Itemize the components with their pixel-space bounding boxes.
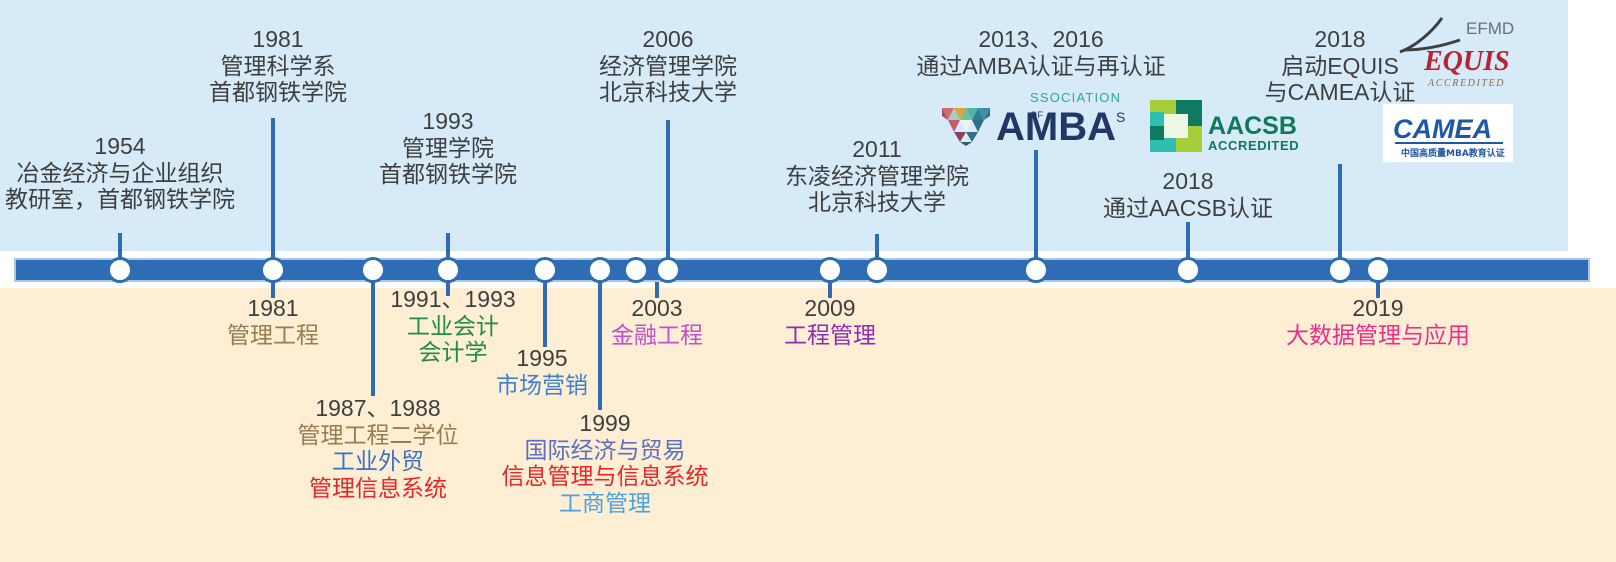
event-line-e1981u-0: 管理科学系 (209, 53, 347, 80)
equis-efmd-text: EFMD (1466, 19, 1514, 38)
aacsb-accredited-text: ACCREDITED (1208, 138, 1299, 153)
event-label-e2018a: 2018通过AACSB认证 (1103, 168, 1273, 221)
event-label-b1981: 1981管理工程 (227, 295, 319, 348)
timeline-node-10[interactable] (1023, 257, 1049, 283)
amba-main-text: AMBA (996, 105, 1116, 149)
camea-sub-text: 中国高质量MBA教育认证 (1401, 147, 1505, 159)
event-line-b1995-0: 市场营销 (496, 372, 588, 399)
event-year-e2018a: 2018 (1103, 168, 1273, 195)
connector-stem-e2013 (1034, 150, 1038, 259)
event-year-e1981u: 1981 (209, 26, 347, 53)
event-year-b2009: 2009 (784, 295, 876, 322)
amba-sup-text: S (1116, 109, 1125, 125)
timeline-node-12[interactable] (1327, 257, 1353, 283)
event-year-b2003: 2003 (611, 295, 703, 322)
event-year-e1954: 1954 (5, 133, 235, 160)
event-line-b1999-2: 工商管理 (502, 490, 709, 517)
event-label-b1995: 1995市场营销 (496, 345, 588, 398)
event-line-b2003-0: 金融工程 (611, 322, 703, 349)
event-year-e2013: 2013、2016 (916, 26, 1165, 53)
event-year-b2019: 2019 (1286, 295, 1470, 322)
amba-wordmark: SSOCIATION OF AMBA S (996, 88, 1144, 150)
camea-logo: CAMEA 中国高质量MBA教育认证 (1383, 104, 1513, 162)
timeline-node-1[interactable] (260, 257, 286, 283)
event-line-e2006-0: 经济管理学院 (599, 53, 737, 80)
timeline-node-7[interactable] (655, 257, 681, 283)
connector-stem-b1995 (543, 282, 547, 347)
event-label-e2006: 2006经济管理学院北京科技大学 (599, 26, 737, 106)
event-line-b1981-0: 管理工程 (227, 322, 319, 349)
timeline-node-2[interactable] (360, 257, 386, 283)
timeline-node-11[interactable] (1175, 257, 1201, 283)
event-year-b1999: 1999 (502, 410, 709, 437)
event-line-e2011-1: 北京科技大学 (785, 189, 969, 216)
connector-stem-e2011 (875, 234, 879, 259)
amba-diamond-icon (938, 92, 996, 146)
equis-accredited-text: ACCREDITED (1427, 78, 1505, 89)
event-label-e2013: 2013、2016通过AMBA认证与再认证 (916, 26, 1165, 79)
equis-logo: EFMD EQUIS ACCREDITED (1398, 16, 1518, 98)
connector-stem-e2018a (1186, 222, 1190, 259)
event-line-e1954-1: 教研室，首都钢铁学院 (5, 186, 235, 213)
timeline-bar (14, 258, 1590, 282)
event-label-e1954: 1954冶金经济与企业组织教研室，首都钢铁学院 (5, 133, 235, 213)
event-label-b1987: 1987、1988管理工程二学位工业外贸管理信息系统 (298, 395, 459, 502)
event-label-e2018b: 2018启动EQUIS与CAMEA认证 (1265, 26, 1416, 106)
connector-stem-e1981u (271, 118, 275, 259)
connector-stem-e1954 (118, 233, 122, 259)
event-label-b1999: 1999国际经济与贸易信息管理与信息系统工商管理 (502, 410, 709, 517)
connector-stem-e2018b (1338, 164, 1342, 259)
aacsb-logo: AACSB ACCREDITED (1148, 98, 1308, 160)
event-year-b1987: 1987、1988 (298, 395, 459, 422)
connector-stem-b1999 (598, 282, 602, 410)
event-label-e1981u: 1981管理科学系首都钢铁学院 (209, 26, 347, 106)
timeline-infographic: 1954冶金经济与企业组织教研室，首都钢铁学院1981管理科学系首都钢铁学院19… (0, 0, 1616, 562)
event-line-e1954-0: 冶金经济与企业组织 (5, 160, 235, 187)
timeline-node-8[interactable] (817, 257, 843, 283)
event-line-b1987-2: 管理信息系统 (298, 475, 459, 502)
timeline-node-5[interactable] (587, 257, 613, 283)
event-year-b1995: 1995 (496, 345, 588, 372)
event-line-e2013-0: 通过AMBA认证与再认证 (916, 53, 1165, 80)
timeline-node-9[interactable] (864, 257, 890, 283)
event-line-e2006-1: 北京科技大学 (599, 79, 737, 106)
event-line-e2018a-0: 通过AACSB认证 (1103, 195, 1273, 222)
event-year-e2006: 2006 (599, 26, 737, 53)
event-label-b2003: 2003金融工程 (611, 295, 703, 348)
camea-main-text: CAMEA (1393, 114, 1492, 144)
equis-mark-icon: EFMD EQUIS ACCREDITED (1398, 16, 1518, 98)
timeline-node-6[interactable] (623, 257, 649, 283)
event-line-b1999-0: 国际经济与贸易 (502, 437, 709, 464)
connector-stem-b1987 (371, 282, 375, 396)
event-line-e1993u-1: 首都钢铁学院 (379, 161, 517, 188)
event-line-b1987-1: 工业外贸 (298, 448, 459, 475)
aacsb-main-text: AACSB (1208, 112, 1297, 140)
event-label-b2009: 2009工程管理 (784, 295, 876, 348)
event-line-b2019-0: 大数据管理与应用 (1286, 322, 1470, 349)
event-line-e1993u-0: 管理学院 (379, 135, 517, 162)
event-year-e2018b: 2018 (1265, 26, 1416, 53)
event-line-b2009-0: 工程管理 (784, 322, 876, 349)
equis-main-text: EQUIS (1423, 46, 1510, 77)
event-line-b1987-0: 管理工程二学位 (298, 422, 459, 449)
timeline-node-13[interactable] (1365, 257, 1391, 283)
event-line-e2011-0: 东凌经济管理学院 (785, 163, 969, 190)
connector-stem-e1993u (446, 233, 450, 259)
event-line-e1981u-1: 首都钢铁学院 (209, 79, 347, 106)
event-label-b2019: 2019大数据管理与应用 (1286, 295, 1470, 348)
amba-logo: SSOCIATION OF AMBA S (938, 88, 1143, 150)
camea-mark-icon: CAMEA 中国高质量MBA教育认证 (1383, 104, 1513, 162)
aacsb-mark-icon: AACSB ACCREDITED (1148, 98, 1308, 160)
event-year-e1993u: 1993 (379, 108, 517, 135)
amba-association-text: SSOCIATION (1030, 90, 1121, 105)
timeline-node-0[interactable] (107, 257, 133, 283)
connector-stem-e2006 (666, 120, 670, 259)
event-line-b1991-0: 工业会计 (390, 313, 515, 340)
timeline-node-4[interactable] (532, 257, 558, 283)
event-line-b1999-1: 信息管理与信息系统 (502, 463, 709, 490)
event-line-e2018b-0: 启动EQUIS (1265, 53, 1416, 80)
event-year-b1991: 1991、1993 (390, 286, 515, 313)
timeline-node-3[interactable] (435, 257, 461, 283)
event-year-b1981: 1981 (227, 295, 319, 322)
event-label-e1993u: 1993管理学院首都钢铁学院 (379, 108, 517, 188)
